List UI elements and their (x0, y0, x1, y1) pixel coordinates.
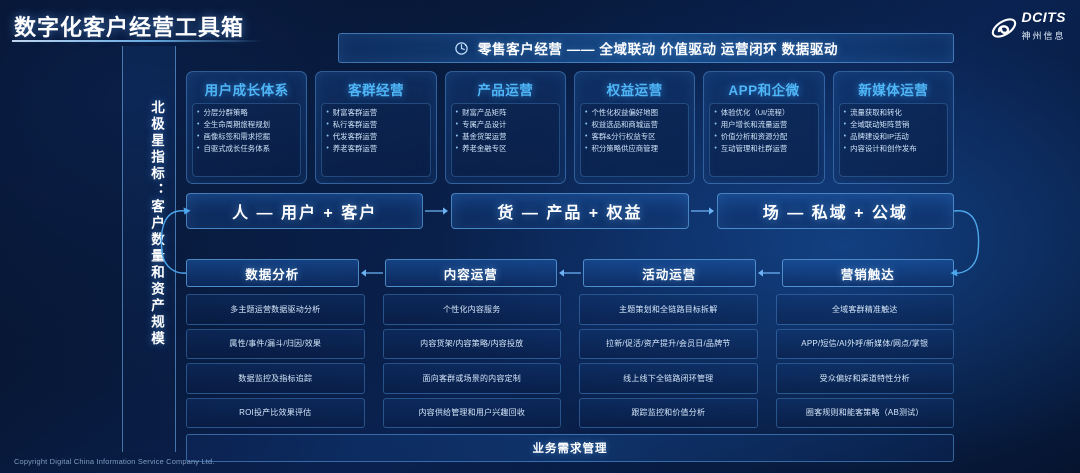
card-item-label: 私行客群运营 (333, 120, 377, 129)
card-item-label: 体验优化（UI/流程） (721, 108, 790, 117)
bullet-icon: • (326, 144, 328, 153)
bullet-icon: • (714, 132, 716, 141)
card-item-label: 流量获取和转化 (850, 108, 902, 117)
head-arrow-icon (756, 267, 782, 279)
card-list-item: •用户增长和流量运营 (714, 120, 814, 129)
bullet-icon: • (585, 132, 587, 141)
flow-box-place[interactable]: 场 — 私域 + 公域 (717, 193, 954, 229)
grid-column-data-analysis: 多主题运营数据驱动分析 属性/事件/漏斗/归因/效果 数据监控及指标追踪 ROI… (186, 294, 365, 428)
card-list-item: •财富产品矩阵 (456, 108, 556, 117)
grid-cell[interactable]: 线上线下全链路闭环管理 (579, 363, 758, 394)
grid-cell[interactable]: 内容供给管理和用户兴趣回收 (383, 398, 562, 429)
card-item-label: 内容设计和创作发布 (850, 144, 917, 153)
head-campaign-ops[interactable]: 活动运营 (583, 259, 756, 287)
grid-column-marketing-reach: 全域客群精准触达 APP/短信/AI外呼/新媒体/网点/掌银 受众偏好和渠道特性… (776, 294, 955, 428)
card-item-label: 专属产品设计 (462, 120, 506, 129)
card-list-item: •客群&分行权益专区 (585, 132, 685, 141)
card-item-label: 财富客群运营 (333, 108, 377, 117)
capability-card[interactable]: 产品运营 •财富产品矩阵 •专属产品设计 •基金货架运营 •养老金融专区 (445, 71, 566, 184)
capability-card[interactable]: 权益运营 •个性化权益偏好地图 •权益选品和商城运营 •客群&分行权益专区 •积… (574, 71, 695, 184)
bullet-icon: • (326, 132, 328, 141)
retail-customer-banner: 零售客户经营 —— 全域联动 价值驱动 运营闭环 数据驱动 (338, 33, 954, 63)
grid-cell[interactable]: APP/短信/AI外呼/新媒体/网点/掌银 (776, 329, 955, 360)
card-title: 权益运营 (580, 77, 689, 103)
card-item-label: 用户增长和流量运营 (721, 120, 788, 129)
card-list-item: •全域联动矩阵营销 (844, 120, 944, 129)
card-list-item: •积分策略供应商管理 (585, 144, 685, 153)
card-title: APP和企微 (709, 77, 818, 103)
bullet-icon: • (197, 144, 199, 153)
flow-row: 人 — 用户 + 客户 货 — 产品 + 权益 场 — 私域 + 公域 (186, 193, 954, 229)
card-item-label: 客群&分行权益专区 (591, 132, 655, 141)
banner-text: 零售客户经营 —— 全域联动 价值驱动 运营闭环 数据驱动 (478, 38, 838, 58)
bullet-icon: • (456, 144, 458, 153)
operation-head-row: 数据分析 内容运营 活动运营 营销触达 (186, 259, 954, 287)
grid-cell[interactable]: ROI投产比效果评估 (186, 398, 365, 429)
bullet-icon: • (844, 132, 846, 141)
bullet-icon: • (197, 132, 199, 141)
refresh-cycle-icon (454, 41, 469, 56)
card-list-item: •品牌建设和IP活动 (844, 132, 944, 141)
card-item-label: 个性化权益偏好地图 (591, 108, 658, 117)
card-list-item: •个性化权益偏好地图 (585, 108, 685, 117)
card-item-label: 养老客群运营 (333, 144, 377, 153)
head-content-ops[interactable]: 内容运营 (385, 259, 558, 287)
card-item-label: 自驱式成长任务体系 (203, 144, 270, 153)
grid-cell[interactable]: 跟踪监控和价值分析 (579, 398, 758, 429)
card-list-item: •私行客群运营 (326, 120, 426, 129)
head-marketing-reach[interactable]: 营销触达 (782, 259, 955, 287)
capability-card[interactable]: APP和企微 •体验优化（UI/流程） •用户增长和流量运营 •价值分析和资源分… (703, 71, 824, 184)
card-item-label: 品牌建设和IP活动 (850, 132, 909, 141)
logo-text-en: DCITS (1022, 9, 1067, 25)
bullet-icon: • (844, 120, 846, 129)
card-list-item: •自驱式成长任务体系 (197, 144, 297, 153)
copyright-text: Copyright Digital China Information Serv… (14, 457, 215, 466)
grid-cell[interactable]: 个性化内容服务 (383, 294, 562, 325)
card-body: •个性化权益偏好地图 •权益选品和商城运营 •客群&分行权益专区 •积分策略供应… (580, 103, 689, 177)
card-title: 新媒体运营 (839, 77, 948, 103)
card-list-item: •流量获取和转化 (844, 108, 944, 117)
bullet-icon: • (326, 120, 328, 129)
bullet-icon: • (197, 120, 199, 129)
card-title: 客群经营 (321, 77, 430, 103)
card-list-item: •体验优化（UI/流程） (714, 108, 814, 117)
bullet-icon: • (844, 108, 846, 117)
card-item-label: 积分策略供应商管理 (591, 144, 658, 153)
card-item-label: 价值分析和资源分配 (721, 132, 788, 141)
card-list-item: •画像标签和需求挖掘 (197, 132, 297, 141)
card-item-label: 互动管理和社群运营 (721, 144, 788, 153)
card-item-label: 基金货架运营 (462, 132, 506, 141)
slide-canvas: 数字化客户经营工具箱 DCITS 神州信息 北极星指标：客户数量和资产规模 零售… (0, 0, 1080, 473)
grid-cell[interactable]: 圈客规则和能客策略（AB测试） (776, 398, 955, 429)
head-arrow-icon (557, 267, 583, 279)
grid-column-content-ops: 个性化内容服务 内容货架/内容策略/内容投放 面向客群或场景的内容定制 内容供给… (383, 294, 562, 428)
card-body: •体验优化（UI/流程） •用户增长和流量运营 •价值分析和资源分配 •互动管理… (709, 103, 818, 177)
capability-card-row: 用户成长体系 •分层分群策略 •全生命周期旅程规划 •画像标签和需求挖掘 •自驱… (186, 71, 954, 184)
brand-logo: DCITS 神州信息 (990, 10, 1067, 44)
card-list-item: •全生命周期旅程规划 (197, 120, 297, 129)
flow-arrow-icon (689, 205, 717, 217)
card-item-label: 分层分群策略 (203, 108, 247, 117)
card-list-item: •养老客群运营 (326, 144, 426, 153)
page-title: 数字化客户经营工具箱 (14, 10, 244, 42)
grid-cell[interactable]: 主题策划和全链路目标拆解 (579, 294, 758, 325)
bullet-icon: • (714, 144, 716, 153)
flow-arrow-icon (423, 205, 451, 217)
card-list-item: •代发客群运营 (326, 132, 426, 141)
card-list-item: •基金货架运营 (456, 132, 556, 141)
grid-cell[interactable]: 受众偏好和渠道特性分析 (776, 363, 955, 394)
bullet-icon: • (585, 144, 587, 153)
title-underline-divider (12, 40, 264, 42)
grid-cell[interactable]: 多主题运营数据驱动分析 (186, 294, 365, 325)
bullet-icon: • (585, 120, 587, 129)
card-item-label: 全域联动矩阵营销 (850, 120, 909, 129)
card-list-item: •价值分析和资源分配 (714, 132, 814, 141)
grid-cell[interactable]: 拉新/促活/资产提升/会员日/品牌节 (579, 329, 758, 360)
north-star-label: 北极星指标：客户数量和资产规模 (132, 100, 166, 348)
card-title: 用户成长体系 (192, 77, 301, 103)
card-item-label: 权益选品和商城运营 (591, 120, 658, 129)
grid-cell[interactable]: 内容货架/内容策略/内容投放 (383, 329, 562, 360)
card-item-label: 代发客群运营 (333, 132, 377, 141)
grid-cell[interactable]: 面向客群或场景的内容定制 (383, 363, 562, 394)
capability-card[interactable]: 客群经营 •财富客群运营 •私行客群运营 •代发客群运营 •养老客群运营 (315, 71, 436, 184)
grid-cell[interactable]: 全域客群精准触达 (776, 294, 955, 325)
bullet-icon: • (197, 108, 199, 117)
capability-card[interactable]: 用户成长体系 •分层分群策略 •全生命周期旅程规划 •画像标签和需求挖掘 •自驱… (186, 71, 307, 184)
bullet-icon: • (456, 120, 458, 129)
capability-card[interactable]: 新媒体运营 •流量获取和转化 •全域联动矩阵营销 •品牌建设和IP活动 •内容设… (833, 71, 954, 184)
business-requirement-bar[interactable]: 业务需求管理 (186, 434, 954, 462)
head-data-analysis[interactable]: 数据分析 (186, 259, 359, 287)
head-arrow-icon (359, 267, 385, 279)
card-body: •财富客群运营 •私行客群运营 •代发客群运营 •养老客群运营 (321, 103, 430, 177)
bullet-icon: • (456, 108, 458, 117)
bullet-icon: • (714, 108, 716, 117)
card-list-item: •养老金融专区 (456, 144, 556, 153)
dcits-swirl-icon (990, 14, 1016, 40)
grid-cell[interactable]: 属性/事件/漏斗/归因/效果 (186, 329, 365, 360)
card-list-item: •专属产品设计 (456, 120, 556, 129)
card-list-item: •财富客群运营 (326, 108, 426, 117)
card-body: •流量获取和转化 •全域联动矩阵营销 •品牌建设和IP活动 •内容设计和创作发布 (839, 103, 948, 177)
flow-box-goods[interactable]: 货 — 产品 + 权益 (451, 193, 688, 229)
card-item-label: 财富产品矩阵 (462, 108, 506, 117)
card-item-label: 养老金融专区 (462, 144, 506, 153)
card-list-item: •内容设计和创作发布 (844, 144, 944, 153)
card-title: 产品运营 (451, 77, 560, 103)
card-list-item: •互动管理和社群运营 (714, 144, 814, 153)
card-item-label: 画像标签和需求挖掘 (203, 132, 270, 141)
detail-grid: 多主题运营数据驱动分析 属性/事件/漏斗/归因/效果 数据监控及指标追踪 ROI… (186, 294, 954, 428)
bullet-icon: • (585, 108, 587, 117)
bullet-icon: • (844, 144, 846, 153)
card-body: •财富产品矩阵 •专属产品设计 •基金货架运营 •养老金融专区 (451, 103, 560, 177)
bullet-icon: • (714, 120, 716, 129)
grid-cell[interactable]: 数据监控及指标追踪 (186, 363, 365, 394)
bullet-icon: • (326, 108, 328, 117)
card-list-item: •权益选品和商城运营 (585, 120, 685, 129)
logo-text-cn: 神州信息 (1022, 31, 1066, 41)
card-body: •分层分群策略 •全生命周期旅程规划 •画像标签和需求挖掘 •自驱式成长任务体系 (192, 103, 301, 177)
card-item-label: 全生命周期旅程规划 (203, 120, 270, 129)
grid-column-campaign-ops: 主题策划和全链路目标拆解 拉新/促活/资产提升/会员日/品牌节 线上线下全链路闭… (579, 294, 758, 428)
bullet-icon: • (456, 132, 458, 141)
card-list-item: •分层分群策略 (197, 108, 297, 117)
flow-box-people[interactable]: 人 — 用户 + 客户 (186, 193, 423, 229)
